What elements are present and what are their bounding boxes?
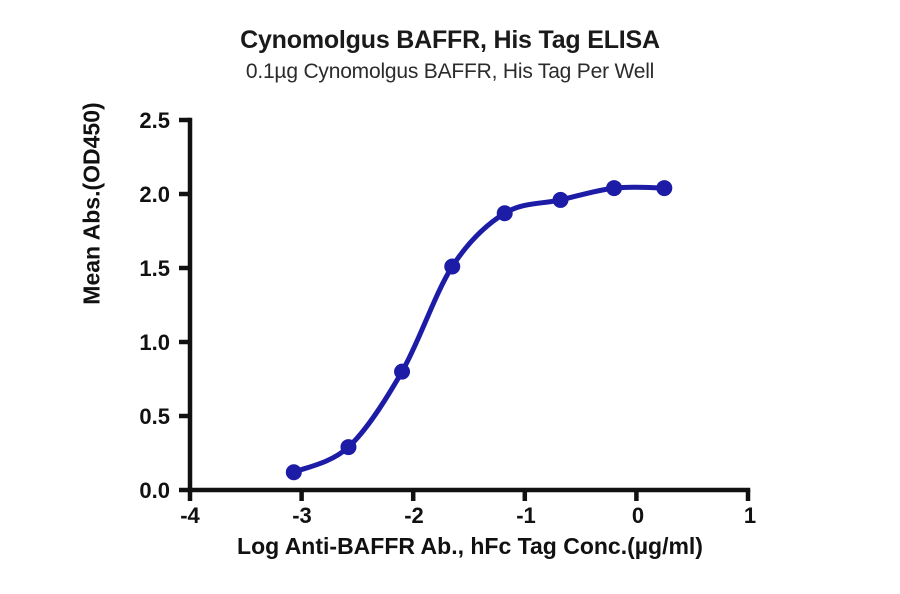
- data-point: [286, 465, 301, 480]
- data-point: [607, 181, 622, 196]
- data-point: [341, 440, 356, 455]
- data-point: [497, 206, 512, 221]
- data-point: [445, 259, 460, 274]
- data-point: [553, 192, 568, 207]
- plot-area: [0, 0, 900, 594]
- elisa-chart-figure: Cynomolgus BAFFR, His Tag ELISA 0.1µg Cy…: [0, 0, 900, 594]
- data-point: [395, 364, 410, 379]
- data-series: [286, 181, 672, 480]
- data-point: [657, 181, 672, 196]
- axes: [179, 120, 748, 501]
